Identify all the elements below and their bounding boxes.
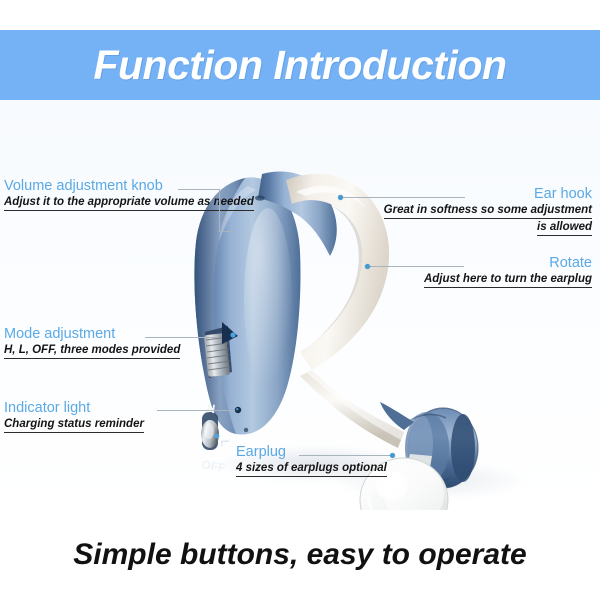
callout-indicator-light: Indicator light Charging status reminder (4, 400, 144, 433)
callout-title: Rotate (382, 255, 592, 272)
callout-title: Earplug (236, 444, 387, 461)
anchor-dot-ear-hook (338, 195, 343, 200)
callout-mode-adjustment: Mode adjustment H, L, OFF, three modes p… (4, 326, 180, 359)
leader-line-volume-h2 (219, 231, 235, 232)
leader-line-ear-hook (340, 197, 465, 198)
callout-description-line: Adjust it to the appropriate volume as n… (4, 195, 254, 211)
callout-volume-adjustment-knob: Volume adjustment knob Adjust it to the … (4, 178, 254, 211)
page-title: Function Introduction (93, 42, 506, 89)
leader-line-volume-v (219, 189, 220, 231)
callout-description-line: Adjust here to turn the earplug (424, 272, 592, 288)
callout-title: Indicator light (4, 400, 144, 417)
caption-text: Simple buttons, easy to operate (73, 538, 526, 572)
illustration-stage: H L OFF Volume adjustment knob Adjust it… (0, 100, 600, 510)
anchor-dot-rotate (365, 264, 370, 269)
callout-description-line: is allowed (537, 220, 592, 236)
callout-rotate: Rotate Adjust here to turn the earplug (382, 255, 592, 288)
callout-description-line: Charging status reminder (4, 417, 144, 433)
top-white-strip (0, 0, 600, 30)
title-banner: Function Introduction (0, 30, 600, 100)
leader-line-rotate (368, 266, 464, 267)
bottom-caption-area: Simple buttons, easy to operate (0, 510, 600, 600)
svg-text:OFF: OFF (200, 457, 226, 475)
leader-line-volume-h (178, 189, 220, 190)
callout-description-line: H, L, OFF, three modes provided (4, 343, 180, 359)
callout-title: Ear hook (382, 186, 592, 203)
callout-description-line: Great in softness so some adjustment (384, 203, 592, 219)
callout-description-line: 4 sizes of earplugs optional (236, 461, 387, 477)
leader-line-indicator (157, 410, 235, 411)
leader-line-earplug (299, 455, 392, 456)
leader-line-mode (145, 337, 218, 338)
callout-title: Volume adjustment knob (4, 178, 254, 195)
anchor-dot-earplug (390, 453, 395, 458)
callout-title: Mode adjustment (4, 326, 180, 343)
svg-text:L: L (218, 439, 230, 447)
product-infographic: Function Introduction (0, 0, 600, 600)
callout-ear-hook: Ear hook Great in softness so some adjus… (382, 186, 592, 236)
callout-earplug: Earplug 4 sizes of earplugs optional (236, 444, 387, 477)
